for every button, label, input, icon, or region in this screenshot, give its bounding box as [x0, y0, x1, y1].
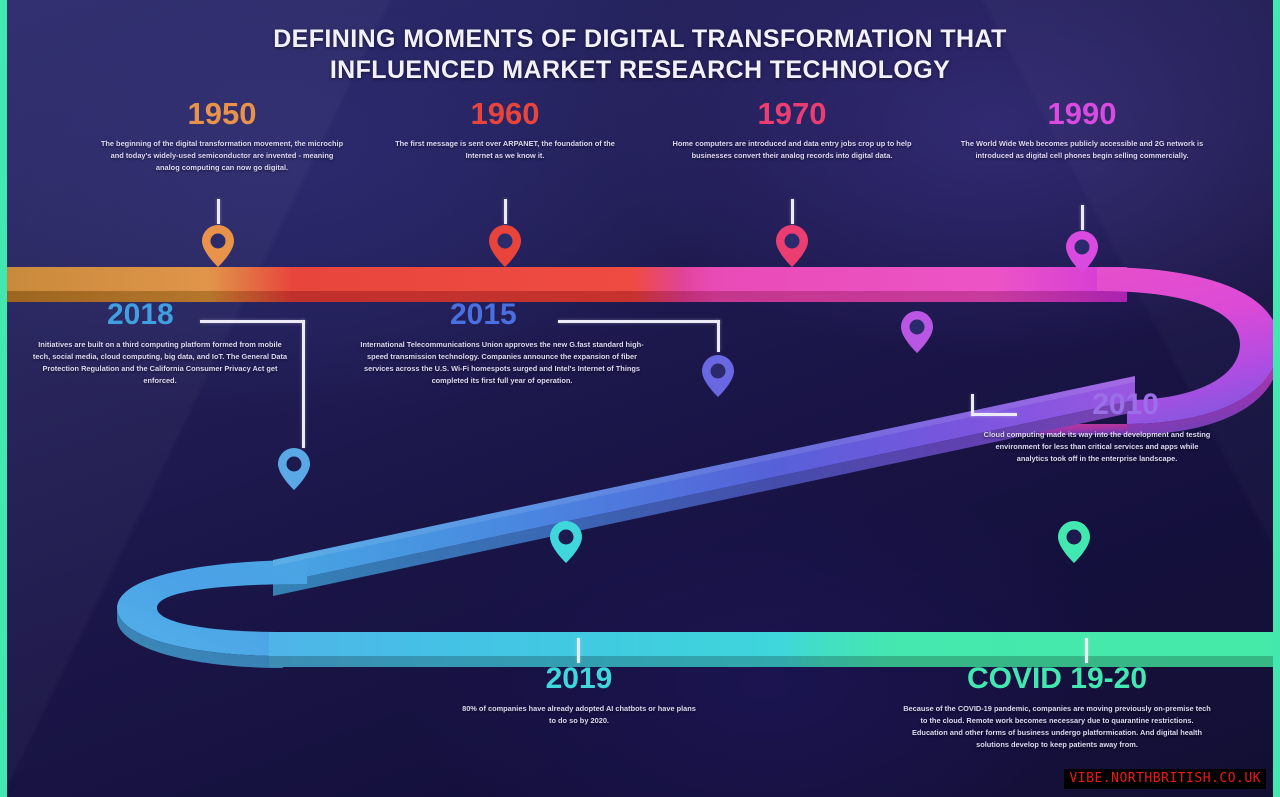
milestone-text: Initiatives are built on a third computi… — [25, 339, 295, 387]
milestone-covid[interactable]: COVID 19-20 Because of the COVID-19 pand… — [887, 664, 1227, 751]
map-pin-icon-1960[interactable] — [488, 223, 522, 269]
map-pin-icon-2015[interactable] — [701, 353, 735, 399]
milestone-1970[interactable]: 1970 Home computers are introduced and d… — [657, 98, 927, 162]
page-title: DEFINING MOMENTS OF DIGITAL TRANSFORMATI… — [7, 24, 1273, 86]
milestone-stem-1960 — [504, 199, 507, 224]
milestone-1960[interactable]: 1960 The first message is sent over ARPA… — [370, 98, 640, 162]
milestone-text: The World Wide Web becomes publicly acce… — [947, 138, 1217, 162]
milestone-year: 2018 — [25, 300, 295, 330]
map-pin-icon-2010[interactable] — [900, 309, 934, 355]
title-line-1: DEFINING MOMENTS OF DIGITAL TRANSFORMATI… — [273, 25, 1007, 53]
milestone-1950[interactable]: 1950 The beginning of the digital transf… — [87, 98, 357, 174]
milestone-year: COVID 19-20 — [887, 664, 1227, 694]
milestone-year: 2010 — [957, 390, 1237, 420]
milestone-year: 2019 — [443, 664, 715, 694]
milestone-text: Cloud computing made its way into the de… — [957, 429, 1237, 465]
milestone-2015[interactable]: 2015 International Telecommunications Un… — [352, 300, 652, 387]
milestone-year: 1990 — [947, 98, 1217, 129]
milestone-stem-1990 — [1081, 205, 1084, 230]
map-pin-icon-2019[interactable] — [549, 519, 583, 565]
infographic-canvas: DEFINING MOMENTS OF DIGITAL TRANSFORMATI… — [0, 0, 1280, 797]
milestone-stem-1970 — [791, 199, 794, 224]
map-pin-icon-2018[interactable] — [277, 446, 311, 492]
milestone-text: The beginning of the digital transformat… — [87, 138, 357, 174]
milestone-year: 1950 — [87, 98, 357, 129]
map-pin-icon-1950[interactable] — [201, 223, 235, 269]
milestone-stem-2019 — [577, 638, 580, 663]
milestone-2018[interactable]: 2018 Initiatives are built on a third co… — [25, 300, 295, 387]
map-pin-icon-covid[interactable] — [1057, 519, 1091, 565]
milestone-year: 1960 — [370, 98, 640, 129]
milestone-stem-1950 — [217, 199, 220, 224]
milestone-year: 1970 — [657, 98, 927, 129]
milestone-year: 2015 — [352, 300, 652, 330]
milestone-text: 80% of companies have already adopted AI… — [443, 703, 715, 727]
milestone-text: The first message is sent over ARPANET, … — [370, 138, 640, 162]
milestone-2019[interactable]: 2019 80% of companies have already adopt… — [443, 664, 715, 727]
milestone-text: International Telecommunications Union a… — [352, 339, 652, 387]
watermark: VIBE.NORTHBRITISH.CO.UK — [1064, 769, 1266, 789]
milestone-stem-covid — [1085, 638, 1088, 663]
milestone-text: Because of the COVID-19 pandemic, compan… — [887, 703, 1227, 751]
milestone-text: Home computers are introduced and data e… — [657, 138, 927, 162]
map-pin-icon-1990[interactable] — [1065, 229, 1099, 275]
map-pin-icon-1970[interactable] — [775, 223, 809, 269]
title-line-2: INFLUENCED MARKET RESEARCH TECHNOLOGY — [7, 55, 1273, 86]
milestone-2010[interactable]: 2010 Cloud computing made its way into t… — [957, 390, 1237, 465]
milestone-1990[interactable]: 1990 The World Wide Web becomes publicly… — [947, 98, 1217, 162]
